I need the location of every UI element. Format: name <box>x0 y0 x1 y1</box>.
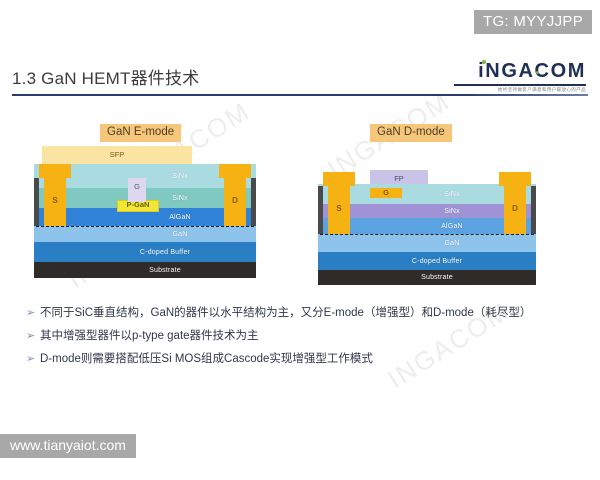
list-item: ➢ 其中增强型器件以p-type gate器件技术为主 <box>26 328 582 344</box>
passivation-edge-right <box>531 186 536 234</box>
slide-canvas: INGACOM INGACOM INGACOM INGACOM INGACOM … <box>0 0 600 480</box>
source-contact: S <box>328 184 350 234</box>
layer-c-doped-buffer: C-doped Buffer <box>34 242 256 262</box>
passivation-edge-left <box>34 178 39 226</box>
drain-contact: D <box>504 184 526 234</box>
bullet-arrow-icon: ➢ <box>26 351 40 367</box>
two-deg-channel-line <box>320 234 534 235</box>
tg-handle-badge: TG: MYYJJPP <box>474 10 592 34</box>
source-contact: S <box>44 176 66 226</box>
gate-electrode: G <box>370 188 402 198</box>
passivation-edge-right <box>251 178 256 226</box>
layer-substrate: Substrate <box>34 262 256 278</box>
figure-gan-e-mode: GaN E-mode SFP SiNx SiNx AlGaN <box>22 118 287 293</box>
list-item: ➢ 不同于SiC垂直结构，GaN的器件以水平结构为主，又分E-mode（增强型）… <box>26 305 582 321</box>
layer-gan: GaN <box>318 234 536 252</box>
page-title: 1.3 GaN HEMT器件技术 <box>12 64 199 89</box>
bullet-text: 不同于SiC垂直结构，GaN的器件以水平结构为主，又分E-mode（增强型）和D… <box>40 305 531 321</box>
slide-header: 1.3 GaN HEMT器件技术 iNGACOM 始终坚持做客户满意和用户最放心… <box>0 58 600 108</box>
logo-underline <box>454 84 586 86</box>
logo-wordmark: iNGACOM <box>478 60 586 83</box>
layer-c-doped-buffer: C-doped Buffer <box>318 252 536 270</box>
bullet-arrow-icon: ➢ <box>26 305 40 321</box>
device-cross-section: SFP SiNx SiNx AlGaN GaN <box>22 118 287 293</box>
bullet-list: ➢ 不同于SiC垂直结构，GaN的器件以水平结构为主，又分E-mode（增强型）… <box>26 305 582 374</box>
layer-gan: GaN <box>34 226 256 242</box>
device-cross-section: FP SiNx SiNx AlGaN GaN <box>308 118 573 293</box>
list-item: ➢ D-mode则需要搭配低压Si MOS组成Cascode实现增强型工作模式 <box>26 351 582 367</box>
bullet-text: D-mode则需要搭配低压Si MOS组成Cascode实现增强型工作模式 <box>40 351 373 367</box>
site-watermark-badge: www.tianyaiot.com <box>0 434 136 458</box>
drain-contact: D <box>224 176 246 226</box>
layer-substrate: Substrate <box>318 270 536 285</box>
figure-gan-d-mode: GaN D-mode FP SiNx SiNx AlGaN <box>308 118 573 293</box>
bullet-arrow-icon: ➢ <box>26 328 40 344</box>
logo-dot-icon <box>482 60 486 64</box>
bullet-text: 其中增强型器件以p-type gate器件技术为主 <box>40 328 259 344</box>
logo-tagline: 始终坚持做客户满意和用户最放心的产品 <box>498 87 586 93</box>
gate-electrode: G <box>128 178 146 202</box>
logo-dot-icon <box>536 71 539 74</box>
field-plate-sfp: SFP <box>42 146 192 164</box>
passivation-edge-left <box>318 186 323 234</box>
figure-row: GaN E-mode SFP SiNx SiNx AlGaN <box>0 118 600 293</box>
company-logo: iNGACOM 始终坚持做客户满意和用户最放心的产品 <box>454 58 586 100</box>
two-deg-channel-line <box>36 226 254 227</box>
